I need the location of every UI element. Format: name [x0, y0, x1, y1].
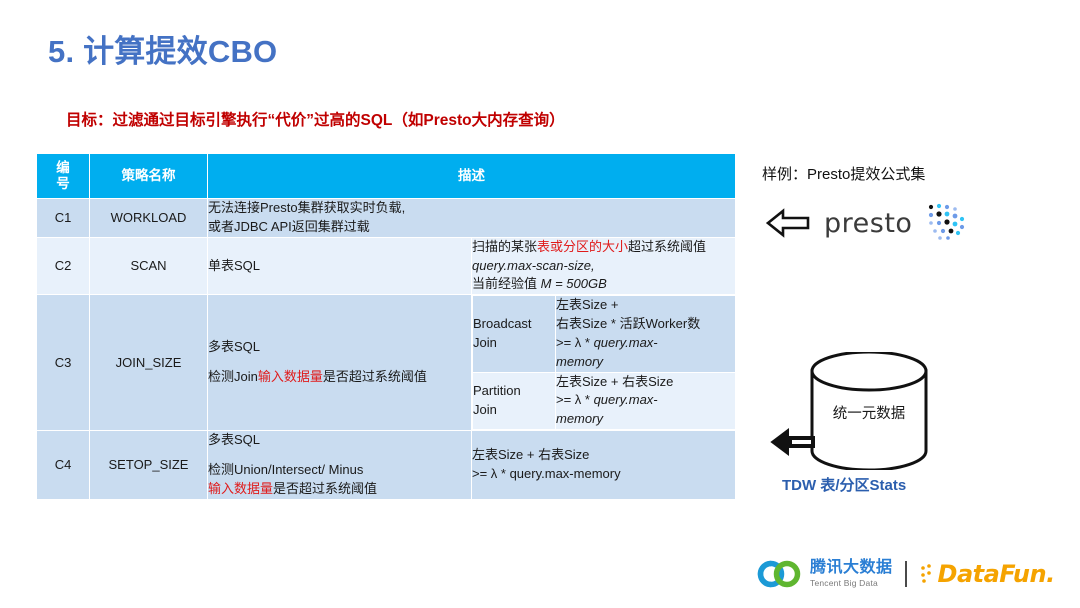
c3-pt-f3i: query.max- — [594, 392, 658, 407]
c3-pt-f3: >= λ * — [556, 392, 594, 407]
tencent-infinity-icon — [757, 560, 803, 588]
row-id-c4: C4 — [37, 431, 90, 500]
subtable-row-partition: Partition Join 左表Size + 右表Size >= λ * qu… — [473, 372, 736, 430]
c2-desc-left: 单表SQL — [208, 237, 472, 295]
c2-desc-right: 扫描的某张表或分区的大小超过系统阈值 query.max-scan-size, … — [472, 237, 736, 295]
c4-desc-left: 多表SQL 检测Union/Intersect/ Minus 输入数据量是否超过… — [208, 431, 472, 500]
page-title: 5. 计算提效CBO — [48, 26, 277, 71]
spacer — [208, 357, 471, 368]
c2-right-pre: 扫描的某张 — [472, 239, 537, 254]
row-name-c3: JOIN_SIZE — [90, 295, 208, 431]
datafun-wordmark: DataFun. — [938, 560, 1055, 588]
c3-bc-f1: 左表Size + — [556, 297, 619, 312]
column-header-number-line2: 号 — [56, 176, 70, 191]
cylinder-label: 统一元数据 — [806, 402, 932, 423]
row-name-c4: SETOP_SIZE — [90, 431, 208, 500]
c4-right-line2: >= λ * query.max-memory — [472, 466, 621, 481]
footer-divider — [905, 561, 907, 587]
page-subtitle: 目标：过滤通过目标引擎执行“代价”过高的SQL（如Presto大内存查询） — [66, 108, 565, 130]
c3-broadcast-label-line2: Join — [473, 335, 497, 350]
row-name-c1: WORKLOAD — [90, 199, 208, 238]
tencent-name-en: Tencent Big Data — [810, 579, 893, 588]
arrow-left-solid-icon — [770, 428, 816, 456]
c3-bc-f2: 右表Size * 活跃Worker数 — [556, 316, 700, 331]
presto-wordmark: presto — [824, 208, 912, 239]
spacer — [208, 450, 471, 461]
table-row: C1 WORKLOAD 无法连接Presto集群获取实时负载, 或者JDBC A… — [37, 199, 736, 238]
c3-partition-label-line2: Join — [473, 402, 497, 417]
c3-broadcast-label: Broadcast Join — [473, 296, 556, 372]
c4-left-line3-highlight: 输入数据量 — [208, 481, 273, 496]
column-header-description: 描述 — [208, 154, 736, 199]
c2-right-highlight: 表或分区的大小 — [537, 239, 628, 254]
row-id-c3: C3 — [37, 295, 90, 431]
footer-logos: 腾讯大数据 Tencent Big Data DataFun. — [757, 560, 1055, 588]
c2-right-post: 超过系统阈值 — [628, 239, 706, 254]
c3-join-subtable: Broadcast Join 左表Size + 右表Size * 活跃Worke… — [472, 295, 736, 430]
c3-broadcast-label-line1: Broadcast — [473, 316, 532, 331]
c3-bc-f3i: query.max- — [594, 335, 658, 350]
c3-subtable-cell: Broadcast Join 左表Size + 右表Size * 活跃Worke… — [472, 295, 736, 431]
c3-partition-formula: 左表Size + 右表Size >= λ * query.max- memory — [556, 372, 736, 430]
presto-logo-block: presto — [766, 203, 970, 243]
c3-left-line1: 多表SQL — [208, 339, 260, 354]
c3-left-line2-post: 是否超过系统阈值 — [323, 369, 427, 384]
column-header-strategy-name: 策略名称 — [90, 154, 208, 199]
c4-right-line1: 左表Size + 右表Size — [472, 447, 589, 462]
c3-partition-label: Partition Join — [473, 372, 556, 430]
row-id-c1: C1 — [37, 199, 90, 238]
sample-label: 样例：Presto提效公式集 — [762, 163, 925, 184]
tencent-text-block: 腾讯大数据 Tencent Big Data — [810, 560, 893, 588]
c4-left-line1: 多表SQL — [208, 432, 260, 447]
datafun-dots-icon — [919, 562, 935, 586]
c3-broadcast-formula: 左表Size + 右表Size * 活跃Worker数 >= λ * query… — [556, 296, 736, 372]
c2-right-line3a: 当前经验值 — [472, 276, 541, 291]
arrow-left-outline-icon — [766, 208, 810, 238]
c2-right-line2: query.max-scan-size, — [472, 258, 595, 273]
subtable-row-broadcast: Broadcast Join 左表Size + 右表Size * 活跃Worke… — [473, 296, 736, 372]
c2-right-line3b: M = 500GB — [541, 276, 607, 291]
table-header-row: 编 号 策略名称 描述 — [37, 154, 736, 199]
presto-dots-icon — [926, 203, 970, 243]
c3-left-line2-highlight: 输入数据量 — [258, 369, 323, 384]
c1-desc-line1: 无法连接Presto集群获取实时负载, — [208, 200, 405, 215]
c4-left-line3-post: 是否超过系统阈值 — [273, 481, 377, 496]
c3-bc-f3: >= λ * — [556, 335, 594, 350]
c3-desc-left: 多表SQL 检测Join输入数据量是否超过系统阈值 — [208, 295, 472, 431]
cbo-strategy-table: 编 号 策略名称 描述 C1 WORKLOAD 无法连接Presto集群获取实时… — [36, 153, 736, 500]
c4-desc-right: 左表Size + 右表Size >= λ * query.max-memory — [472, 431, 736, 500]
table-row: C2 SCAN 单表SQL 扫描的某张表或分区的大小超过系统阈值 query.m… — [37, 237, 736, 295]
tencent-name-cn: 腾讯大数据 — [810, 560, 893, 576]
c1-desc-line2: 或者JDBC API返回集群过载 — [208, 219, 370, 234]
c3-partition-label-line1: Partition — [473, 383, 521, 398]
c4-left-line2: 检测Union/Intersect/ Minus — [208, 462, 363, 477]
c3-pt-f4i: memory — [556, 411, 603, 426]
row-id-c2: C2 — [37, 237, 90, 295]
datafun-logo: DataFun. — [919, 560, 1055, 588]
metadata-cylinder: 统一元数据 — [806, 352, 932, 470]
row-name-c2: SCAN — [90, 237, 208, 295]
table-row: C4 SETOP_SIZE 多表SQL 检测Union/Intersect/ M… — [37, 431, 736, 500]
tencent-big-data-logo: 腾讯大数据 Tencent Big Data — [757, 560, 893, 588]
table-row: C3 JOIN_SIZE 多表SQL 检测Join输入数据量是否超过系统阈值 B… — [37, 295, 736, 431]
tdw-stats-label: TDW 表/分区Stats — [782, 474, 906, 495]
c3-pt-f1: 左表Size + 右表Size — [556, 374, 673, 389]
column-header-number: 编 号 — [37, 154, 90, 199]
row-desc-c1: 无法连接Presto集群获取实时负载, 或者JDBC API返回集群过载 — [208, 199, 736, 238]
c3-bc-f4i: memory — [556, 354, 603, 369]
c3-left-line2-pre: 检测Join — [208, 369, 258, 384]
column-header-number-line1: 编 — [56, 160, 70, 175]
